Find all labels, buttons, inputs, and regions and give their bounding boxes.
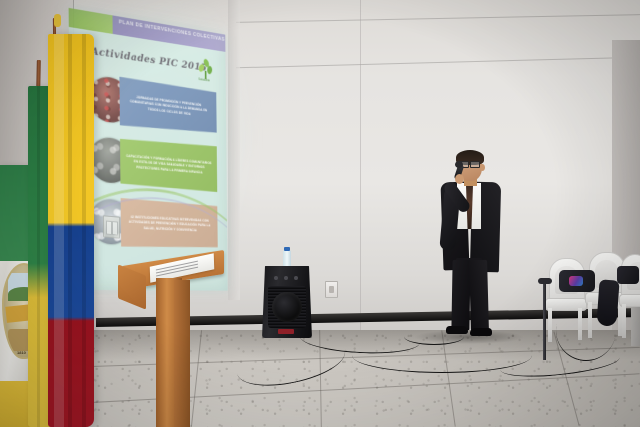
slide-row-banner: CAPACITACIÓN Y FORMACIÓN A LÍDERES COMUN… xyxy=(120,137,217,192)
pa-loudspeaker xyxy=(262,266,312,338)
flag-pole-finial xyxy=(54,14,61,27)
wooden-lectern xyxy=(118,258,224,427)
power-outlet xyxy=(325,281,338,298)
microphone-stand-head xyxy=(538,278,552,284)
logo-caption: Saludable xyxy=(198,77,210,82)
slide-row-banner: JORNADAS DE PROMOCIÓN Y PREVENCIÓN COMUN… xyxy=(119,77,216,136)
light-switch[interactable] xyxy=(103,215,120,238)
wall-panel-edge xyxy=(360,0,361,330)
floor-cable xyxy=(404,328,464,345)
bottle-cap xyxy=(284,247,290,251)
backpack xyxy=(559,270,595,292)
flag-colombia xyxy=(48,34,94,427)
microphone-stand xyxy=(543,282,546,360)
wall-strip-beside-screen xyxy=(228,0,240,300)
presenter-in-suit xyxy=(424,152,512,338)
green-leaf-health-logo-icon: Saludable xyxy=(198,58,216,84)
presentation-room-photo: PLAN DE INTERVENCIONES COLECTIVAS Activi… xyxy=(0,0,640,427)
crest-year: 1810 xyxy=(17,350,26,355)
handbag xyxy=(617,266,639,284)
